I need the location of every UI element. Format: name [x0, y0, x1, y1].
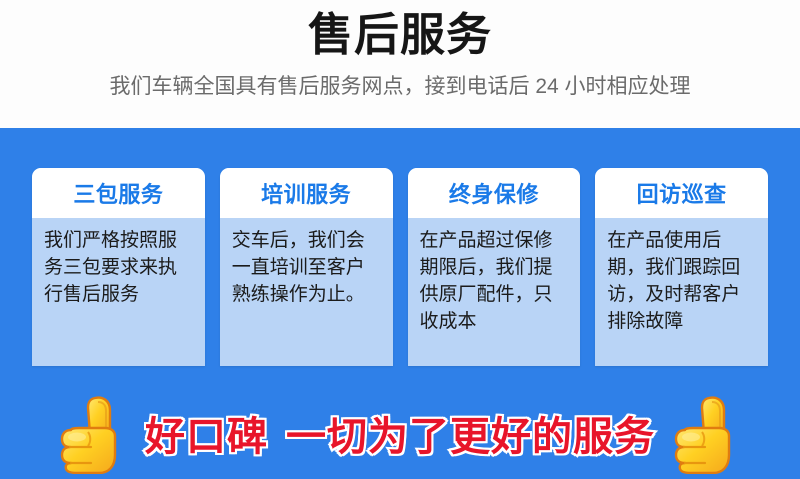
card-header: 三包服务: [32, 168, 205, 218]
card-header: 终身保修: [408, 168, 581, 218]
service-card-training[interactable]: 培训服务 交车后，我们会一直培训至客户熟练操作为止。: [220, 168, 393, 366]
card-body: 在产品使用后期，我们跟踪回访，及时帮客户排除故障: [595, 218, 768, 366]
card-body: 在产品超过保修期限后，我们提供原厂配件，只收成本: [408, 218, 581, 366]
card-title: 培训服务: [261, 177, 351, 209]
card-title: 终身保修: [449, 177, 539, 209]
card-body: 我们严格按照服务三包要求来执行售后服务: [32, 218, 205, 366]
page-title: 售后服务: [308, 6, 492, 64]
card-description: 交车后，我们会一直培训至客户熟练操作为止。: [232, 227, 383, 308]
thumbs-up-icon: [57, 392, 129, 474]
blue-content-band: 三包服务 我们严格按照服务三包要求来执行售后服务 培训服务 交车后，我们会一直培…: [0, 128, 800, 479]
thumbs-up-icon: [671, 392, 743, 474]
slogan-text: 好口碑一切为了更好的服务: [145, 404, 655, 462]
service-card-list: 三包服务 我们严格按照服务三包要求来执行售后服务 培训服务 交车后，我们会一直培…: [32, 168, 768, 366]
promo-banner-page: 售后服务 我们车辆全国具有售后服务网点，接到电话后 24 小时相应处理 三包服务…: [0, 0, 800, 479]
page-subtitle: 我们车辆全国具有售后服务网点，接到电话后 24 小时相应处理: [109, 73, 690, 101]
slogan-banner: 好口碑一切为了更好的服务: [0, 386, 800, 479]
card-description: 在产品使用后期，我们跟踪回访，及时帮客户排除故障: [607, 227, 758, 335]
service-card-sanbao[interactable]: 三包服务 我们严格按照服务三包要求来执行售后服务: [32, 168, 205, 366]
card-title: 回访巡查: [637, 177, 727, 209]
slogan-part-2: 一切为了更好的服务: [286, 415, 655, 459]
card-description: 在产品超过保修期限后，我们提供原厂配件，只收成本: [420, 227, 571, 335]
service-card-followup-inspection[interactable]: 回访巡查 在产品使用后期，我们跟踪回访，及时帮客户排除故障: [595, 168, 768, 366]
card-body: 交车后，我们会一直培训至客户熟练操作为止。: [220, 218, 393, 366]
card-header: 培训服务: [220, 168, 393, 218]
card-description: 我们严格按照服务三包要求来执行售后服务: [44, 227, 195, 308]
slogan-part-1: 好口碑: [145, 415, 268, 459]
page-header: 售后服务 我们车辆全国具有售后服务网点，接到电话后 24 小时相应处理: [0, 0, 800, 128]
service-card-lifetime-warranty[interactable]: 终身保修 在产品超过保修期限后，我们提供原厂配件，只收成本: [408, 168, 581, 366]
card-header: 回访巡查: [595, 168, 768, 218]
card-title: 三包服务: [73, 177, 163, 209]
